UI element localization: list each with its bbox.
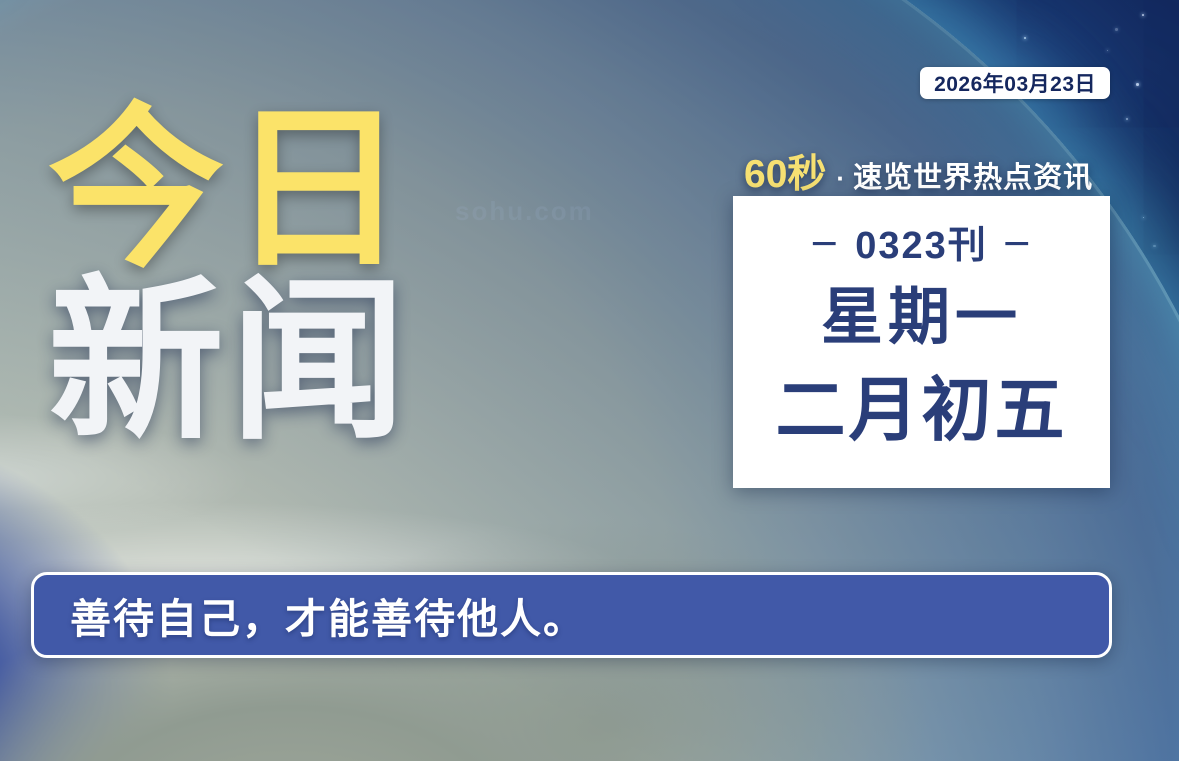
page-title: 今日 新闻 [48,104,412,449]
quote-text: 善待自己，才能善待他人。 [70,585,586,645]
issue-dash-right: － [1002,220,1034,264]
tagline-seconds: 60秒 [744,143,826,199]
tagline: 60秒 · 速览世界热点资讯 [744,143,1093,199]
issue-dash-left: － [809,220,841,264]
date-badge: 2026年03月23日 [920,67,1110,99]
quote-banner: 善待自己，才能善待他人。 [31,572,1112,658]
page-title-line-1: 今日 [48,104,412,276]
lunar-date-label: 二月初五 [776,375,1068,445]
tagline-separator: · [828,163,851,194]
tagline-text: 速览世界热点资讯 [853,154,1093,196]
issue-number-row: － 0323刊 － [809,214,1034,269]
date-badge-text: 2026年03月23日 [934,68,1096,98]
issue-card: － 0323刊 － 星期一 二月初五 [733,196,1110,488]
watermark-text: sohu.com [455,196,594,227]
news-poster: sohu.com 2026年03月23日 今日 新闻 60秒 · 速览世界热点资… [0,0,1179,761]
weekday-label: 星期一 [821,287,1022,349]
page-title-line-2: 新闻 [48,276,412,448]
issue-number: 0323刊 [855,214,988,269]
